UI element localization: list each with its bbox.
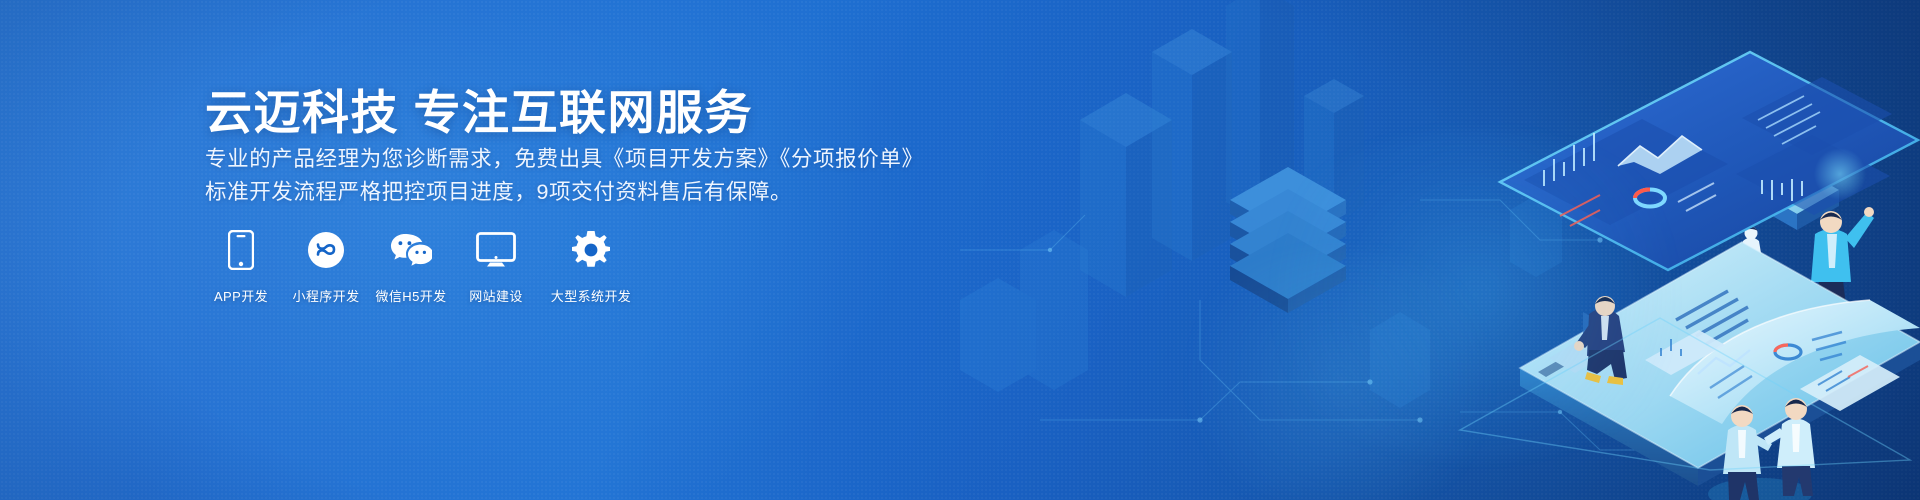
service-item-website[interactable]: 网站建设 [460,228,532,305]
service-label-system: 大型系统开发 [551,286,631,305]
subtitle-line-1: 专业的产品经理为您诊断需求，免费出具《项目开发方案》《分项报价单》 [205,143,924,176]
hero-banner: 云迈科技 专注互联网服务 专业的产品经理为您诊断需求，免费出具《项目开发方案》《… [0,0,1920,500]
service-label-miniprogram: 小程序开发 [292,286,359,305]
isometric-data-dashboard-illustration [900,0,1920,500]
subtitle-line-2: 标准开发流程严格把控项目进度，9项交付资料售后有保障。 [205,176,924,209]
wechat-icon [388,228,434,272]
page-title: 云迈科技 专注互联网服务 [205,74,753,143]
subtitle-block: 专业的产品经理为您诊断需求，免费出具《项目开发方案》《分项报价单》 标准开发流程… [205,143,924,209]
service-list: APP开发 小程序开发 [205,228,637,305]
service-label-website: 网站建设 [469,286,523,305]
banner-content: 云迈科技 专注互联网服务 专业的产品经理为您诊断需求，免费出具《项目开发方案》《… [0,0,960,500]
service-item-miniprogram[interactable]: 小程序开发 [290,228,362,305]
service-item-app[interactable]: APP开发 [205,228,277,305]
mobile-phone-icon [218,228,264,272]
mini-program-icon [303,228,349,272]
gear-icon [568,228,614,272]
monitor-icon [473,228,519,272]
service-item-system[interactable]: 大型系统开发 [545,228,637,305]
service-label-app: APP开发 [214,286,268,305]
service-label-wechat: 微信H5开发 [375,286,446,305]
service-item-wechat[interactable]: 微信H5开发 [375,228,447,305]
